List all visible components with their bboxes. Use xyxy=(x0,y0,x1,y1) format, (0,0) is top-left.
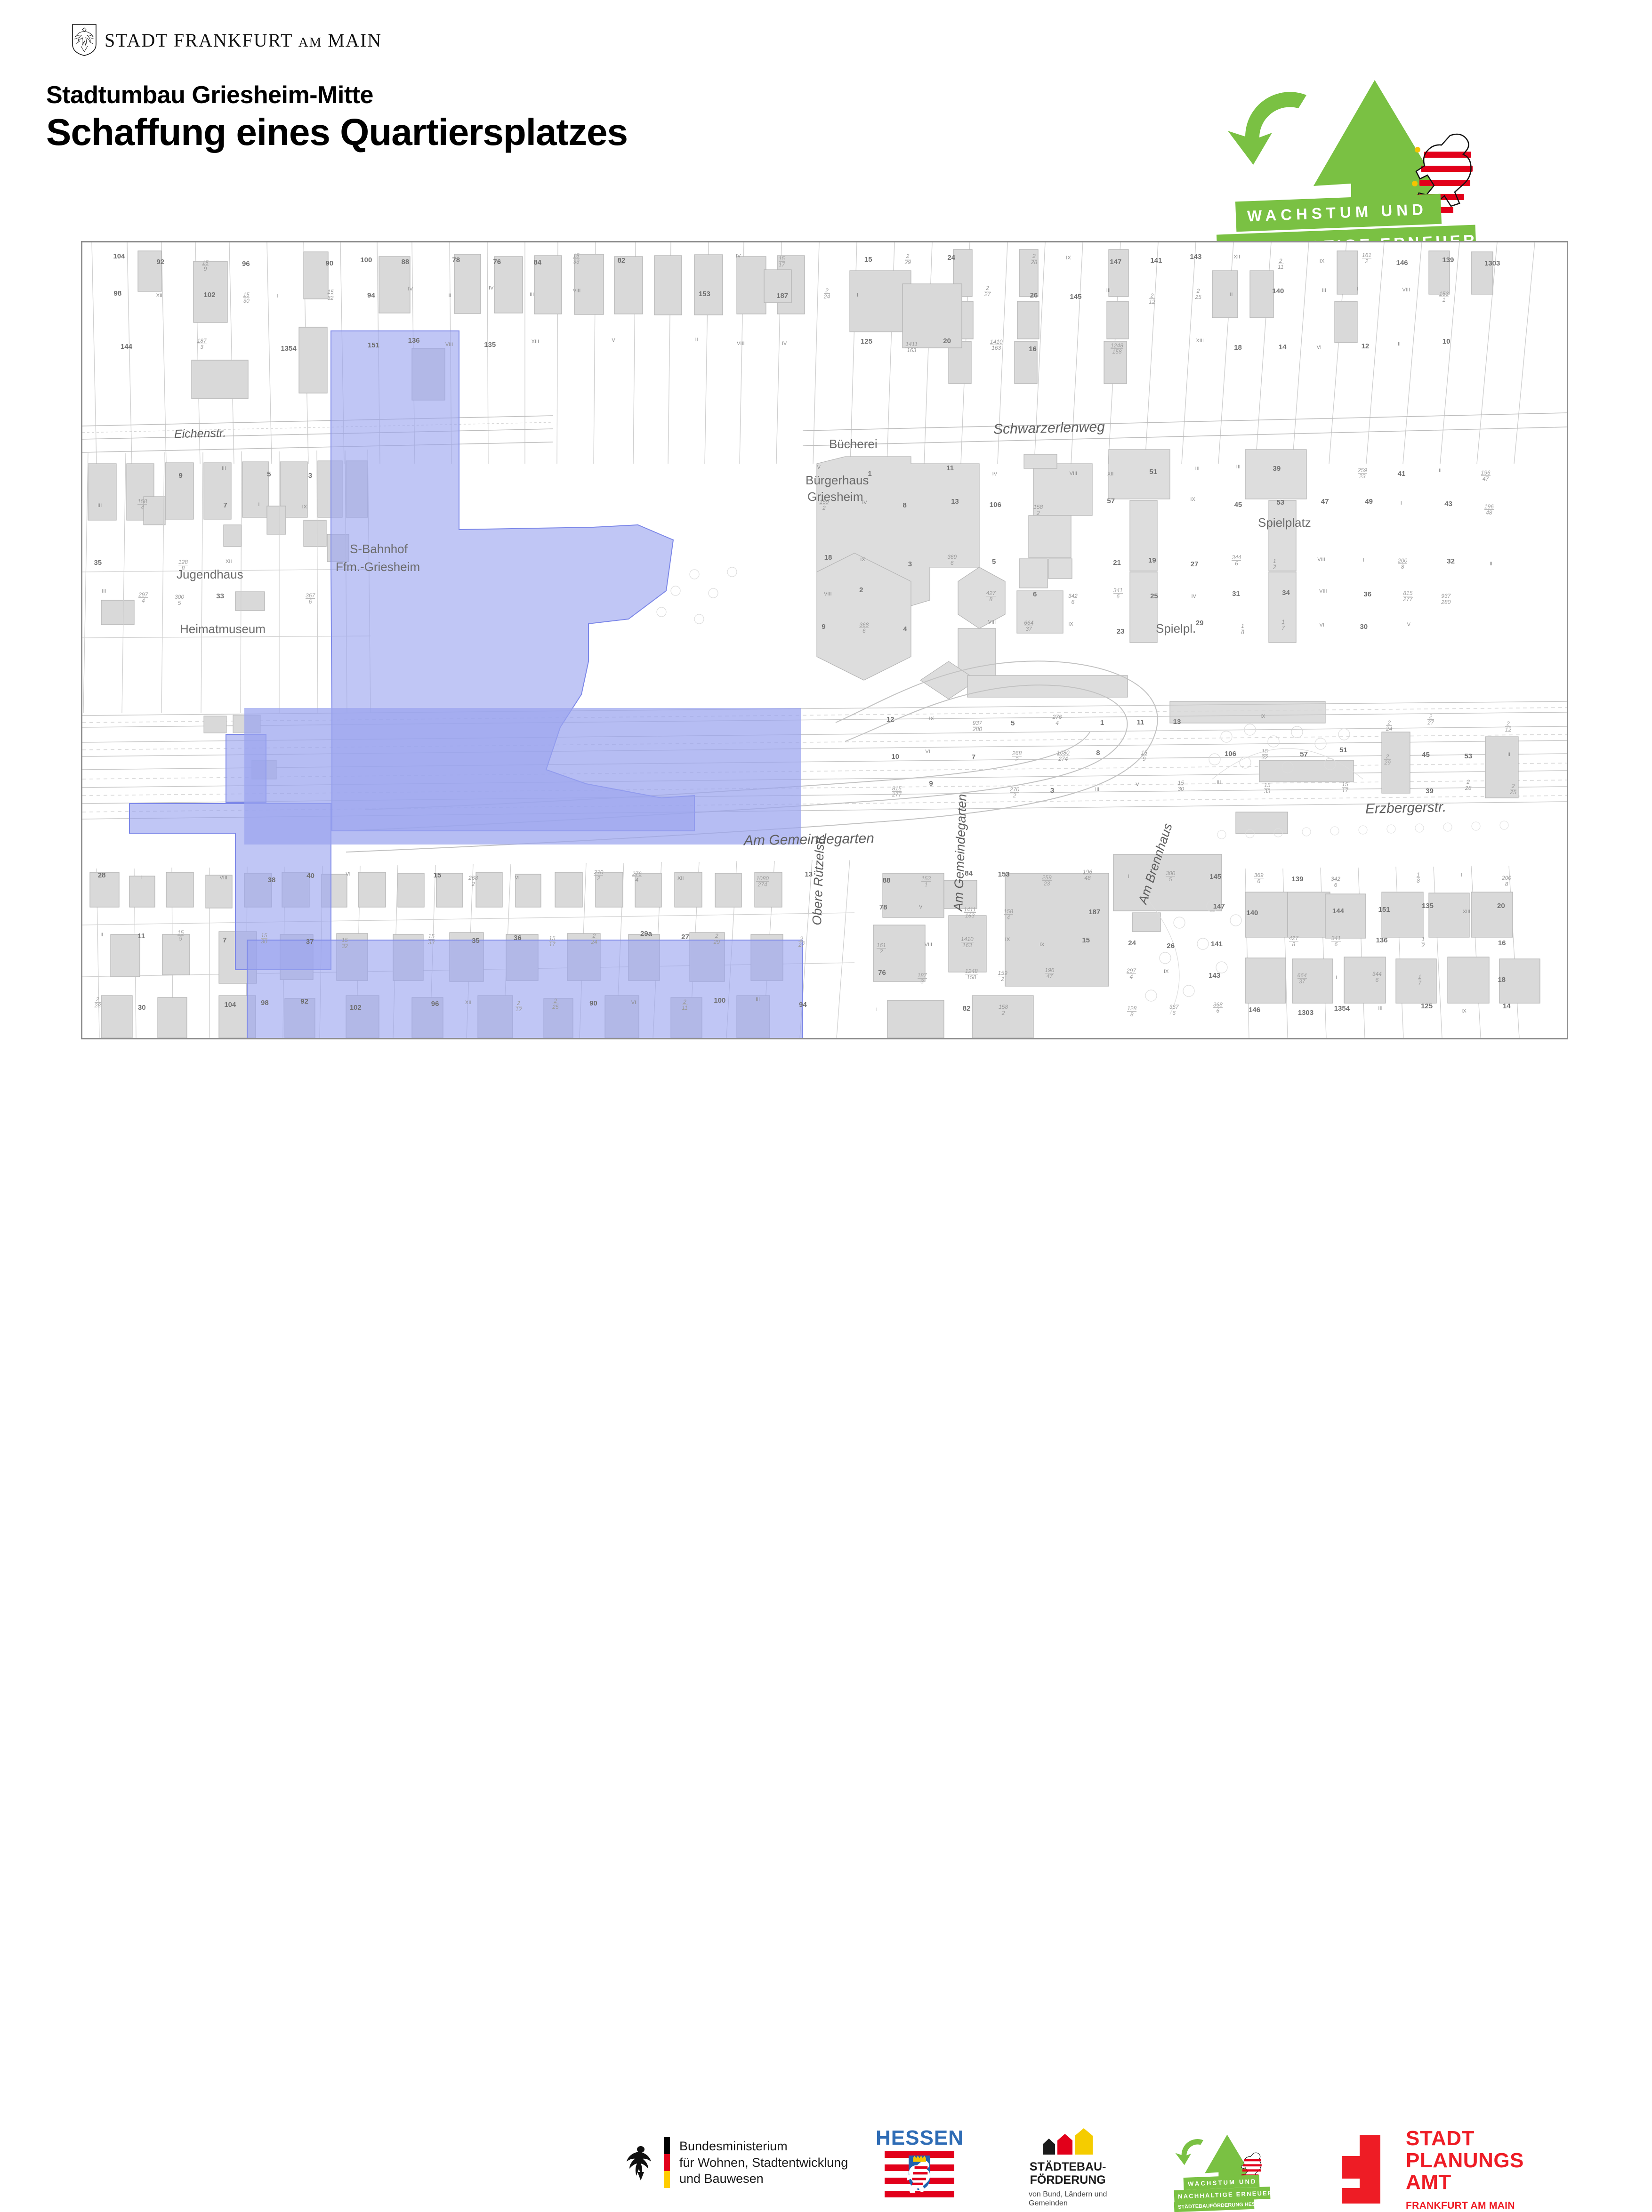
map-house-number: 136 xyxy=(408,337,420,345)
map-house-number: 82 xyxy=(618,257,626,265)
map-parcel-number: 1410163 xyxy=(990,339,1003,351)
map-storey-marker: XII xyxy=(1107,471,1113,477)
map-parcel-number: 211 xyxy=(682,999,687,1011)
map-parcel-number: 3676 xyxy=(1169,1004,1179,1016)
map-vector-drawing xyxy=(82,242,1567,1038)
street-label-eichenstr: Eichenstr. xyxy=(174,426,226,441)
map-storey-marker: XIII xyxy=(532,339,540,345)
map-parcel-number: 1517 xyxy=(549,935,555,947)
map-house-number: 78 xyxy=(879,903,887,911)
map-parcel-number: 1582 xyxy=(999,1004,1008,1016)
map-parcel-number: 19647 xyxy=(1481,470,1491,482)
map-house-number: 125 xyxy=(861,338,872,346)
map-house-number: 144 xyxy=(121,343,132,351)
map-storey-marker: IX xyxy=(1190,497,1195,502)
stadtplanungsamt-logo: STADT PLANUNGS AMT FRANKFURT AM MAIN xyxy=(1337,2128,1524,2212)
map-parcel-number: 3686 xyxy=(1213,1002,1223,1013)
map-storey-marker: IX xyxy=(302,504,307,510)
map-house-number: 104 xyxy=(224,1001,236,1009)
map-house-number: 96 xyxy=(242,260,250,268)
bmwsb-line2: für Wohnen, Stadtentwicklung xyxy=(679,2155,848,2171)
map-parcel-number: 1532 xyxy=(327,289,333,301)
map-storey-marker: III xyxy=(756,997,760,1002)
place-label-s-bahnhof: S-Bahnhof xyxy=(350,542,408,556)
map-parcel-number: 159 xyxy=(1141,750,1147,762)
map-storey-marker: IX xyxy=(1068,621,1073,627)
place-label-buecherei: Bücherei xyxy=(829,437,878,451)
map-parcel-number: 937280 xyxy=(973,720,982,732)
hessen-shield-icon xyxy=(907,2152,932,2193)
map-house-number: 10 xyxy=(891,753,899,761)
map-parcel-number: 25923 xyxy=(1358,467,1367,479)
map-parcel-number: 2974 xyxy=(138,592,148,603)
map-parcel-number: 1517 xyxy=(779,256,785,267)
map-parcel-number: 1530 xyxy=(261,933,267,944)
map-storey-marker: IV xyxy=(408,286,412,292)
map-storey-marker: IX xyxy=(1040,942,1044,948)
map-house-number: 151 xyxy=(1378,906,1390,914)
map-storey-marker: VIII xyxy=(988,619,996,625)
map-storey-marker: IX xyxy=(1320,258,1324,264)
map-storey-marker: V xyxy=(1407,622,1410,627)
map-parcel-number: 3416 xyxy=(1331,935,1341,947)
map-parcel-number: 212 xyxy=(516,1000,522,1012)
map-storey-marker: XII xyxy=(1234,254,1240,260)
map-house-number: 39 xyxy=(1426,787,1434,795)
map-house-number: 49 xyxy=(1365,498,1373,506)
map-parcel-number: 224 xyxy=(824,288,830,299)
map-house-number: 30 xyxy=(138,1004,146,1012)
map-storey-marker: I xyxy=(258,502,259,507)
map-house-number: 9 xyxy=(178,472,182,480)
stadtplanungsamt-text: STADT PLANUNGS AMT FRANKFURT AM MAIN xyxy=(1406,2128,1524,2212)
map-storey-marker: IV xyxy=(736,253,741,259)
map-house-number: 8 xyxy=(1096,749,1100,757)
map-house-number: 20 xyxy=(943,337,951,345)
map-house-number: 18 xyxy=(824,554,832,562)
map-house-number: 25 xyxy=(1150,592,1158,600)
map-house-number: 10 xyxy=(1442,338,1451,346)
map-parcel-number: 227 xyxy=(798,936,805,948)
bmwsb-line3: und Bauwesen xyxy=(679,2171,848,2187)
map-storey-marker: XII xyxy=(677,876,684,881)
map-house-number: 33 xyxy=(216,592,224,600)
map-parcel-number: 1533 xyxy=(1264,782,1270,794)
map-storey-marker: IX xyxy=(1461,1008,1466,1014)
map-parcel-number: 1530 xyxy=(243,292,249,304)
map-parcel-number: 211 xyxy=(1278,258,1283,270)
map-storey-marker: VI xyxy=(631,1000,636,1005)
map-house-number: 146 xyxy=(1396,259,1408,267)
footer-logo-bar: Bundesministerium für Wohnen, Stadtentwi… xyxy=(0,1062,1652,1156)
map-house-number: 18 xyxy=(1498,976,1506,984)
map-parcel-number: 2702 xyxy=(1010,787,1019,798)
map-storey-marker: VIII xyxy=(824,591,832,597)
map-house-number: 53 xyxy=(1276,499,1284,507)
map-parcel-number: 1248158 xyxy=(1111,343,1123,354)
map-parcel-number: 3005 xyxy=(175,594,184,606)
map-house-number: 41 xyxy=(1398,470,1406,478)
map-parcel-number: 224 xyxy=(1386,720,1392,732)
map-storey-marker: III xyxy=(1106,288,1111,293)
map-storey-marker: IX xyxy=(860,557,865,563)
map-parcel-number: 1592 xyxy=(998,970,1007,982)
map-house-number: 82 xyxy=(963,1005,971,1013)
map-parcel-number: 19648 xyxy=(1484,504,1494,515)
three-houses-icon xyxy=(1043,2130,1093,2155)
stadtplanungsamt-mark-icon xyxy=(1337,2135,1394,2204)
map-storey-marker: VIII xyxy=(573,288,581,294)
map-house-number: 36 xyxy=(514,934,522,942)
map-storey-marker: VIII xyxy=(445,342,453,347)
map-house-number: 23 xyxy=(1117,627,1125,635)
place-label-ffm-griesheim: Ffm.-Griesheim xyxy=(336,560,420,574)
map-house-number: 3 xyxy=(1050,787,1054,795)
map-parcel-number: 1530 xyxy=(1178,780,1184,792)
map-storey-marker: XIII xyxy=(1196,338,1204,344)
map-storey-marker: IV xyxy=(992,471,997,477)
map-storey-marker: III xyxy=(530,292,534,298)
map-house-number: 14 xyxy=(1503,1002,1511,1010)
map-storey-marker: XII xyxy=(465,1000,471,1005)
map-parcel-number: 225 xyxy=(552,998,558,1010)
federal-eagle-icon xyxy=(626,2143,655,2182)
map-storey-marker: I xyxy=(1336,975,1337,981)
map-storey-marker: V xyxy=(817,465,820,470)
map-parcel-number: 225 xyxy=(1195,288,1201,300)
stbf-title: STÄDTEBAU- FÖRDERUNG xyxy=(1030,2160,1106,2187)
map-storey-marker: III xyxy=(1236,464,1241,470)
map-storey-marker: I xyxy=(876,1007,878,1013)
map-house-number: 51 xyxy=(1339,746,1347,754)
hessen-wordmark: HESSEN xyxy=(876,2128,964,2148)
map-storey-marker: I xyxy=(140,875,142,880)
map-parcel-number: 2682 xyxy=(468,875,478,887)
map-parcel-number: 3676 xyxy=(306,593,315,604)
city-logo-stadt: STADT xyxy=(105,30,168,51)
map-house-number: 92 xyxy=(300,997,308,1005)
place-label-spielplatz: Spielplatz xyxy=(1258,515,1311,530)
map-storey-marker: II xyxy=(695,337,698,343)
map-house-number: 7 xyxy=(972,753,975,761)
map-house-number: 1303 xyxy=(1484,259,1500,267)
map-parcel-number: 4278 xyxy=(986,590,996,602)
map-storey-marker: I xyxy=(1128,874,1129,879)
map-house-number: 11 xyxy=(1137,718,1144,726)
map-storey-marker: IX xyxy=(929,716,934,722)
map-parcel-number: 18 xyxy=(1241,623,1244,635)
map-house-number: 1 xyxy=(868,470,871,478)
map-house-number: 15 xyxy=(864,256,872,264)
city-logo-frankfurt: FRANKFURT xyxy=(174,30,293,51)
map-house-number: 88 xyxy=(883,877,891,885)
map-parcel-number: 1873 xyxy=(918,973,927,984)
map-parcel-number: 159 xyxy=(177,930,184,941)
map-parcel-number: 1612 xyxy=(1362,252,1371,264)
map-house-number: 135 xyxy=(484,341,496,349)
map-house-number: 51 xyxy=(1149,468,1157,476)
map-house-number: 19 xyxy=(1148,556,1156,564)
place-label-heimatmuseum: Heimatmuseum xyxy=(180,622,266,636)
map-house-number: 106 xyxy=(990,501,1001,509)
map-house-number: 45 xyxy=(1422,751,1430,759)
map-parcel-number: 4278 xyxy=(1289,935,1298,947)
map-house-number: 146 xyxy=(1249,1006,1260,1014)
street-label-erzbergerstr: Erzbergerstr. xyxy=(1365,799,1447,817)
map-parcel-number: 2008 xyxy=(1502,875,1511,887)
map-parcel-number: 66437 xyxy=(1024,620,1033,632)
map-house-number: 14 xyxy=(1279,343,1287,351)
bmwsb-logo: Bundesministerium für Wohnen, Stadtentwi… xyxy=(626,2137,848,2188)
map-parcel-number: 1612 xyxy=(877,942,886,954)
map-parcel-number: 1080274 xyxy=(756,876,769,887)
map-parcel-number: 18 xyxy=(1417,872,1420,884)
map-house-number: 5 xyxy=(1011,719,1015,727)
city-of-frankfurt-logo: STADT FRANKFURT AM MAIN xyxy=(71,24,372,56)
bmwsb-text: Bundesministerium für Wohnen, Stadtentwi… xyxy=(679,2138,848,2187)
stbf-sub2: Gemeinden xyxy=(1029,2199,1107,2208)
map-parcel-number: 1410163 xyxy=(961,936,974,948)
map-parcel-number: 19648 xyxy=(1083,869,1092,881)
map-house-number: 31 xyxy=(1232,590,1240,598)
map-house-number: 96 xyxy=(431,1000,439,1008)
map-storey-marker: VIII xyxy=(737,341,745,346)
map-parcel-number: 3696 xyxy=(947,554,957,566)
map-house-number: 135 xyxy=(1422,902,1434,910)
map-house-number: 94 xyxy=(799,1001,807,1009)
map-house-number: 94 xyxy=(367,291,375,299)
map-parcel-number: 2764 xyxy=(632,871,642,883)
map-storey-marker: II xyxy=(1230,292,1233,298)
map-house-number: 7 xyxy=(223,936,226,944)
map-house-number: 136 xyxy=(1376,936,1388,944)
map-storey-marker: I xyxy=(1401,500,1402,506)
map-storey-marker: VIII xyxy=(1319,588,1327,594)
map-house-number: 187 xyxy=(776,292,788,300)
map-house-number: 13 xyxy=(1173,718,1181,726)
german-flag-bar-icon xyxy=(664,2137,670,2188)
map-parcel-number: 159 xyxy=(202,260,208,272)
map-house-number: 27 xyxy=(681,933,689,941)
map-parcel-number: 17 xyxy=(1418,974,1421,986)
map-storey-marker: I xyxy=(1357,286,1358,292)
map-house-number: 38 xyxy=(268,876,276,884)
map-house-number: 145 xyxy=(1070,293,1081,301)
map-parcel-number: 1517 xyxy=(1342,781,1348,793)
map-house-number: 45 xyxy=(1234,501,1242,509)
map-house-number: 11 xyxy=(137,932,145,940)
map-storey-marker: VIII xyxy=(1070,471,1078,476)
map-parcel-number: 3426 xyxy=(1068,593,1078,605)
map-house-number: 140 xyxy=(1246,909,1258,917)
map-house-number: 20 xyxy=(1497,902,1505,910)
city-logo-wordmark: STADT FRANKFURT AM MAIN xyxy=(105,29,382,51)
map-storey-marker: IV xyxy=(782,341,787,346)
map-parcel-number: 2682 xyxy=(1012,750,1022,762)
map-storey-marker: VIII xyxy=(925,942,933,948)
map-storey-marker: V xyxy=(919,904,922,910)
map-parcel-number: 1873 xyxy=(197,338,207,350)
map-storey-marker: I xyxy=(857,292,858,298)
map-storey-marker: II xyxy=(1490,561,1492,567)
map-house-number: 90 xyxy=(589,999,597,1007)
street-label-am-gemeindegarten: Am Gemeindegarten xyxy=(744,831,874,849)
map-house-number: 3 xyxy=(908,560,912,568)
map-storey-marker: XII xyxy=(156,293,162,298)
map-house-number: 102 xyxy=(350,1004,362,1012)
map-house-number: 100 xyxy=(714,997,725,1005)
spa-sub: FRANKFURT AM MAIN xyxy=(1406,2200,1524,2212)
map-parcel-number: 212 xyxy=(1505,721,1511,732)
map-house-number: 12 xyxy=(1362,342,1370,350)
map-parcel-number: 1532 xyxy=(342,937,348,949)
map-storey-marker: IX xyxy=(1164,969,1168,974)
map-storey-marker: IV xyxy=(489,285,493,291)
map-parcel-number: 227 xyxy=(984,285,991,297)
map-house-number: 92 xyxy=(156,258,164,266)
map-parcel-number: 2974 xyxy=(1127,968,1136,980)
map-house-number: 29 xyxy=(1196,619,1204,627)
map-parcel-number: 1248158 xyxy=(965,968,978,980)
map-house-number: 26 xyxy=(1030,291,1038,299)
map-house-number: 39 xyxy=(1273,465,1281,473)
frankfurt-eagle-crest-icon xyxy=(71,24,98,56)
map-parcel-number: 229 xyxy=(905,253,911,265)
map-parcel-number: 229 xyxy=(714,933,720,945)
bmwsb-line1: Bundesministerium xyxy=(679,2138,848,2155)
map-house-number: 34 xyxy=(1282,589,1290,597)
staedtebaufoerderung-logo: STÄDTEBAU- FÖRDERUNG von Bund, Ländern u… xyxy=(1029,2130,1107,2208)
map-house-number: 16 xyxy=(1498,939,1506,947)
map-house-number: 98 xyxy=(261,999,269,1007)
map-house-number: 147 xyxy=(1110,258,1121,266)
map-parcel-number: 12 xyxy=(1421,936,1425,948)
cadastral-map[interactable]: Eichenstr. Schwarzerlenweg Am Gemeindega… xyxy=(81,241,1568,1039)
spa-line2: PLANUNGS xyxy=(1406,2150,1524,2172)
map-storey-marker: XII xyxy=(226,559,232,564)
map-house-number: 5 xyxy=(992,558,996,566)
map-house-number: 4 xyxy=(903,625,907,633)
map-storey-marker: VIII xyxy=(1317,557,1325,563)
map-storey-marker: V xyxy=(612,338,615,343)
map-house-number: 30 xyxy=(1360,623,1368,631)
map-house-number: 1354 xyxy=(1334,1005,1350,1013)
map-parcel-number: 227 xyxy=(1427,714,1434,725)
map-house-number: 57 xyxy=(1300,750,1308,758)
map-parcel-number: 228 xyxy=(1031,253,1037,265)
map-parcel-number: 2764 xyxy=(1053,714,1062,726)
title-block: Stadtumbau Griesheim-Mitte Schaffung ein… xyxy=(46,82,628,153)
map-storey-marker: III xyxy=(222,466,226,471)
map-parcel-number: 1288 xyxy=(178,559,188,571)
map-parcel-number: 2702 xyxy=(594,869,603,881)
map-parcel-number: 1531 xyxy=(1439,291,1449,303)
map-house-number: 27 xyxy=(1191,560,1199,568)
map-house-number: 84 xyxy=(965,869,973,877)
map-parcel-number: 1533 xyxy=(428,933,435,945)
map-house-number: 144 xyxy=(1332,907,1344,915)
map-parcel-number: 12 xyxy=(1273,558,1276,570)
map-house-number: 35 xyxy=(472,937,480,945)
map-house-number: 98 xyxy=(113,290,121,298)
map-parcel-number: 1584 xyxy=(137,499,147,510)
map-parcel-number: 1584 xyxy=(1004,909,1013,920)
map-parcel-number: 3446 xyxy=(1232,555,1241,566)
wachstum-logo-footer: WACHSTUM UND NACHHALTIGE ERNEUERUNG STÄD… xyxy=(1172,2135,1299,2210)
map-parcel-number: 3005 xyxy=(1166,870,1175,882)
map-parcel-number: 3446 xyxy=(1372,971,1382,983)
map-house-number: 90 xyxy=(325,259,333,267)
map-parcel-number: 937280 xyxy=(1441,593,1451,605)
map-storey-marker: VI xyxy=(1319,622,1324,628)
hessen-flag-icon xyxy=(885,2151,954,2200)
map-parcel-number: 1411163 xyxy=(964,907,976,918)
map-parcel-number: 17 xyxy=(1281,619,1285,631)
map-house-number: 28 xyxy=(98,871,106,879)
map-house-number: 15 xyxy=(1082,936,1090,944)
highlight-area-south xyxy=(244,708,801,845)
map-storey-marker: III xyxy=(1095,787,1099,792)
map-house-number: 37 xyxy=(306,938,314,946)
map-house-number: 21 xyxy=(1113,559,1121,567)
stbf-sub1: von Bund, Ländern und xyxy=(1029,2190,1107,2199)
map-storey-marker: II xyxy=(1439,468,1442,474)
map-parcel-number: 3426 xyxy=(1331,876,1340,888)
map-house-number: 143 xyxy=(1209,972,1220,980)
map-storey-marker: II xyxy=(1398,341,1401,347)
map-storey-marker: IX xyxy=(1066,255,1071,261)
map-house-number: 9 xyxy=(822,623,825,631)
map-house-number: 47 xyxy=(1321,498,1329,506)
map-house-number: 40 xyxy=(306,872,314,880)
map-house-number: 8 xyxy=(903,501,907,509)
map-house-number: 100 xyxy=(360,256,372,264)
map-storey-marker: II xyxy=(449,293,451,298)
map-storey-marker: VI xyxy=(346,871,350,877)
map-house-number: 84 xyxy=(533,258,541,266)
map-storey-marker: III xyxy=(1322,288,1326,293)
map-storey-marker: IV xyxy=(1191,594,1196,599)
map-parcel-number: 815277 xyxy=(1403,590,1412,602)
spa-line1: STADT xyxy=(1406,2128,1524,2150)
map-storey-marker: V xyxy=(1136,782,1139,788)
map-house-number: 43 xyxy=(1444,500,1452,508)
map-parcel-number: 2008 xyxy=(1398,558,1407,570)
map-parcel-number: 1582 xyxy=(1033,504,1043,516)
map-parcel-number: 1288 xyxy=(1127,1005,1136,1017)
map-house-number: 24 xyxy=(1128,939,1136,947)
map-house-number: 24 xyxy=(947,254,955,262)
map-parcel-number: 19647 xyxy=(1045,967,1054,979)
map-storey-marker: I xyxy=(276,293,278,299)
map-parcel-number: 212 xyxy=(1149,293,1155,305)
map-house-number: 143 xyxy=(1190,253,1201,261)
map-parcel-number: 1532 xyxy=(1262,748,1268,760)
map-house-number: 16 xyxy=(1029,345,1037,353)
map-storey-marker: I xyxy=(1461,872,1462,878)
map-house-number: 57 xyxy=(1107,497,1115,505)
map-house-number: 18 xyxy=(1234,344,1242,352)
map-parcel-number: 229 xyxy=(1384,754,1390,765)
map-storey-marker: IV xyxy=(862,500,867,506)
map-storey-marker: VI xyxy=(925,749,930,755)
map-house-number: 36 xyxy=(1363,590,1371,598)
spa-line3: AMT xyxy=(1406,2172,1524,2194)
city-logo-am: AM xyxy=(298,35,322,50)
map-storey-marker: III xyxy=(97,503,102,508)
map-house-number: 106 xyxy=(1225,750,1236,758)
map-storey-marker: III xyxy=(1217,780,1221,785)
